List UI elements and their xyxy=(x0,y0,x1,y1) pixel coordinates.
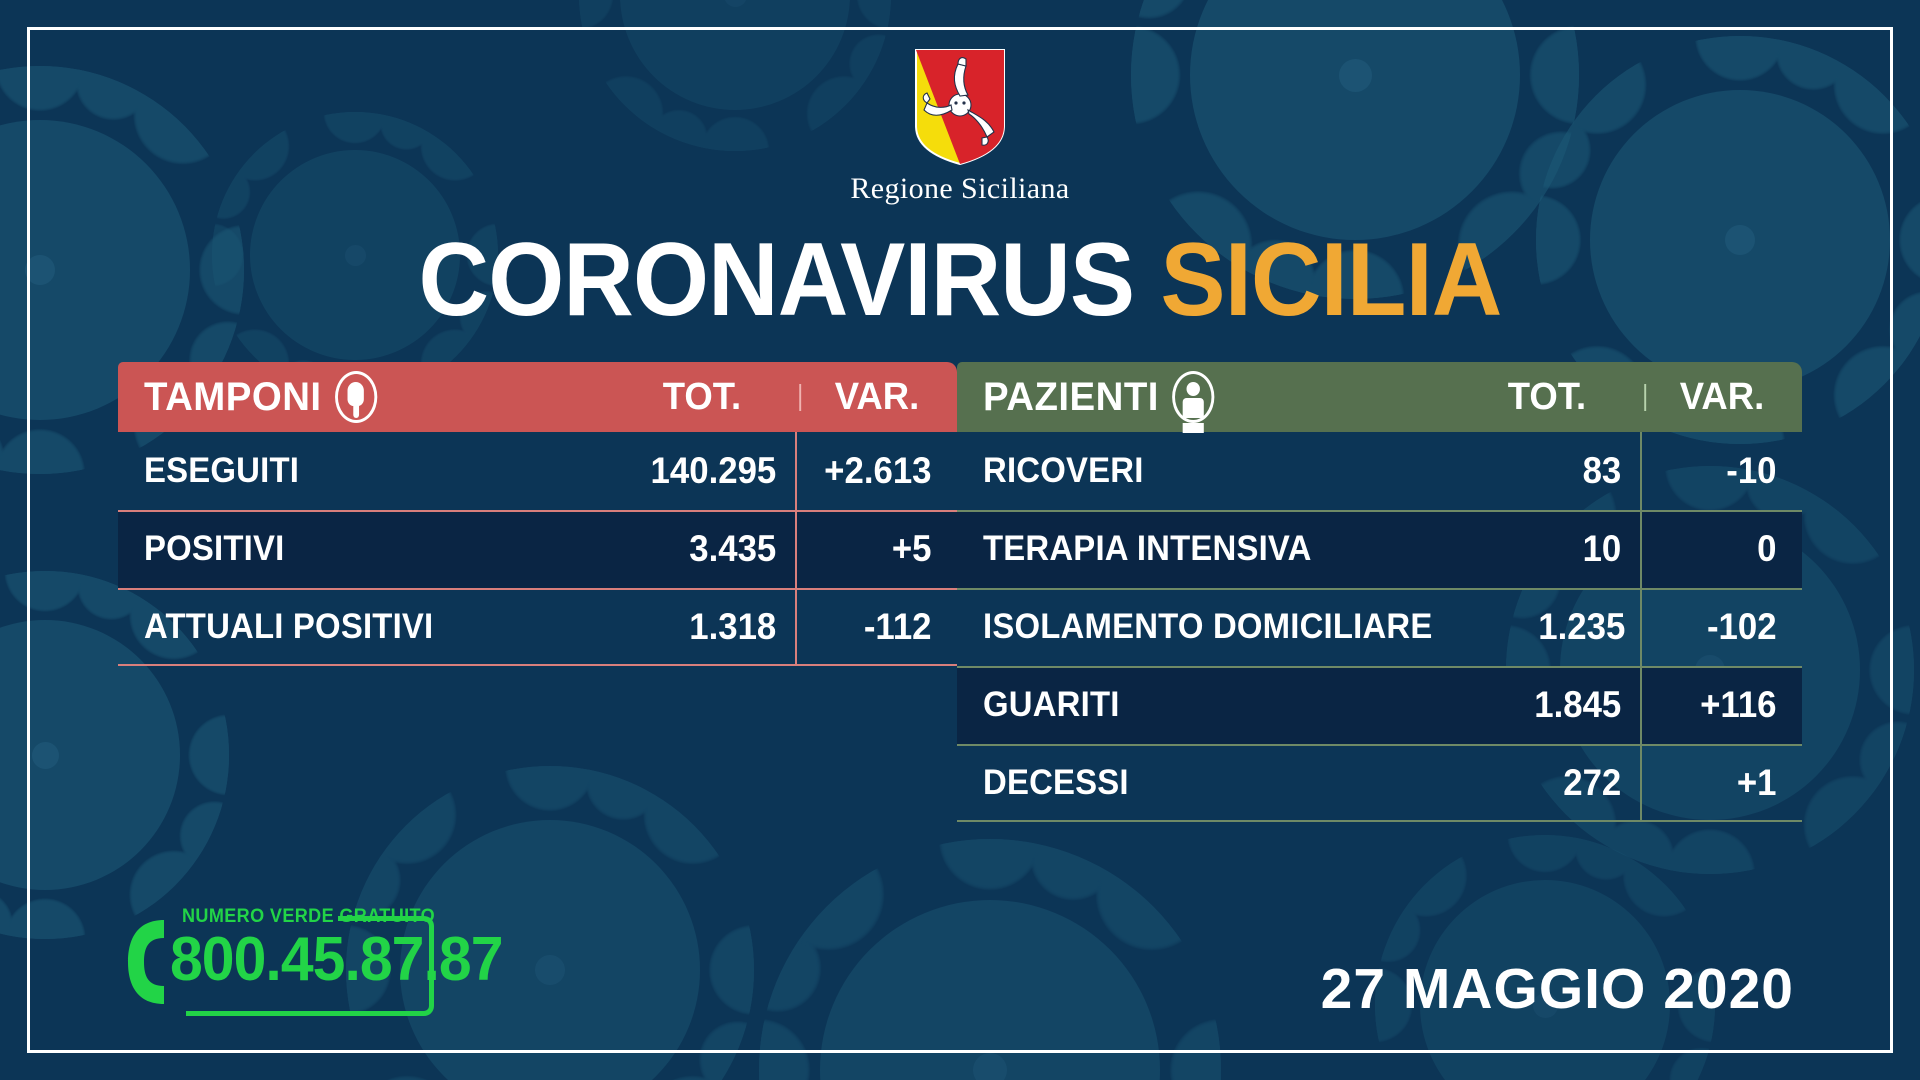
table-row: RICOVERI 83 -10 xyxy=(957,432,1802,510)
poster-header: Regione Siciliana CORONAVIRUS SICILIA xyxy=(0,48,1920,332)
row-variation: -10 xyxy=(1647,450,1797,492)
person-icon xyxy=(1172,371,1214,423)
row-total: 83 xyxy=(1458,450,1637,492)
phone-handset-icon xyxy=(124,916,170,1008)
row-total: 1.318 xyxy=(613,606,792,648)
row-label: RICOVERI xyxy=(983,451,1424,491)
pazienti-table: PAZIENTI TOT. VAR. RICOVERI 83 -10 TERAP… xyxy=(957,362,1802,822)
row-label: POSITIVI xyxy=(144,529,579,569)
row-variation: +2.613 xyxy=(802,450,952,492)
row-variation: 0 xyxy=(1647,528,1797,570)
row-variation: +116 xyxy=(1647,684,1797,726)
title-sicilia: SICILIA xyxy=(1160,222,1501,338)
pazienti-col-tot: TOT. xyxy=(1456,376,1638,419)
row-total: 272 xyxy=(1458,762,1637,804)
row-total: 1.235 xyxy=(1467,606,1641,648)
hotline-box[interactable]: NUMERO VERDE GRATUITO 800.45.87.87 xyxy=(124,902,424,1020)
pazienti-table-header: PAZIENTI TOT. VAR. xyxy=(957,362,1802,432)
tamponi-header-label: TAMPONI xyxy=(144,375,322,420)
title-coronavirus: CORONAVIRUS xyxy=(419,222,1135,338)
row-variation: -112 xyxy=(802,606,952,648)
pazienti-header-label: PAZIENTI xyxy=(983,375,1159,420)
sicilian-trinacria-shield-icon xyxy=(914,48,1006,166)
row-label: ESEGUITI xyxy=(144,451,579,491)
swab-icon xyxy=(335,371,377,423)
page-title: CORONAVIRUS SICILIA xyxy=(58,228,1863,332)
hotline-number[interactable]: 800.45.87.87 xyxy=(170,924,503,995)
stats-tables: TAMPONI TOT. VAR. ESEGUITI 140.295 +2.61… xyxy=(118,362,1802,822)
tamponi-table-body: ESEGUITI 140.295 +2.613 POSITIVI 3.435 +… xyxy=(118,432,957,666)
region-name: Regione Siciliana xyxy=(0,172,1920,206)
tamponi-column-divider xyxy=(795,432,797,666)
infographic-poster: Regione Siciliana CORONAVIRUS SICILIA TA… xyxy=(0,0,1920,1080)
pazienti-header-title: PAZIENTI xyxy=(983,371,1433,423)
row-label: ATTUALI POSITIVI xyxy=(144,607,579,647)
tamponi-header-title: TAMPONI xyxy=(144,371,588,423)
row-label: ISOLAMENTO DOMICILIARE xyxy=(983,607,1433,647)
row-label: DECESSI xyxy=(983,763,1424,803)
row-variation: +5 xyxy=(802,528,952,570)
row-label: GUARITI xyxy=(983,685,1424,725)
table-row: TERAPIA INTENSIVA 10 0 xyxy=(957,510,1802,588)
row-label: TERAPIA INTENSIVA xyxy=(983,529,1424,569)
tamponi-table-header: TAMPONI TOT. VAR. xyxy=(118,362,957,432)
row-total: 1.845 xyxy=(1458,684,1637,726)
row-total: 3.435 xyxy=(613,528,792,570)
table-row: ESEGUITI 140.295 +2.613 xyxy=(118,432,957,510)
table-row: ATTUALI POSITIVI 1.318 -112 xyxy=(118,588,957,666)
table-row: DECESSI 272 +1 xyxy=(957,744,1802,822)
row-total: 140.295 xyxy=(613,450,792,492)
pazienti-column-divider xyxy=(1640,432,1642,822)
table-row: POSITIVI 3.435 +5 xyxy=(118,510,957,588)
tamponi-col-tot: TOT. xyxy=(611,376,793,419)
virus-shape xyxy=(820,900,1160,1080)
tamponi-table: TAMPONI TOT. VAR. ESEGUITI 140.295 +2.61… xyxy=(118,362,957,822)
row-variation: +1 xyxy=(1647,762,1797,804)
table-row: GUARITI 1.845 +116 xyxy=(957,666,1802,744)
row-variation: -102 xyxy=(1651,606,1798,648)
report-date: 27 MAGGIO 2020 xyxy=(1321,956,1794,1022)
tamponi-col-var: VAR. xyxy=(800,376,954,419)
hotline-bracket-bottom xyxy=(186,1011,346,1016)
row-total: 10 xyxy=(1458,528,1637,570)
pazienti-col-var: VAR. xyxy=(1645,376,1799,419)
table-row: ISOLAMENTO DOMICILIARE 1.235 -102 xyxy=(957,588,1802,666)
pazienti-table-body: RICOVERI 83 -10 TERAPIA INTENSIVA 10 0 I… xyxy=(957,432,1802,822)
